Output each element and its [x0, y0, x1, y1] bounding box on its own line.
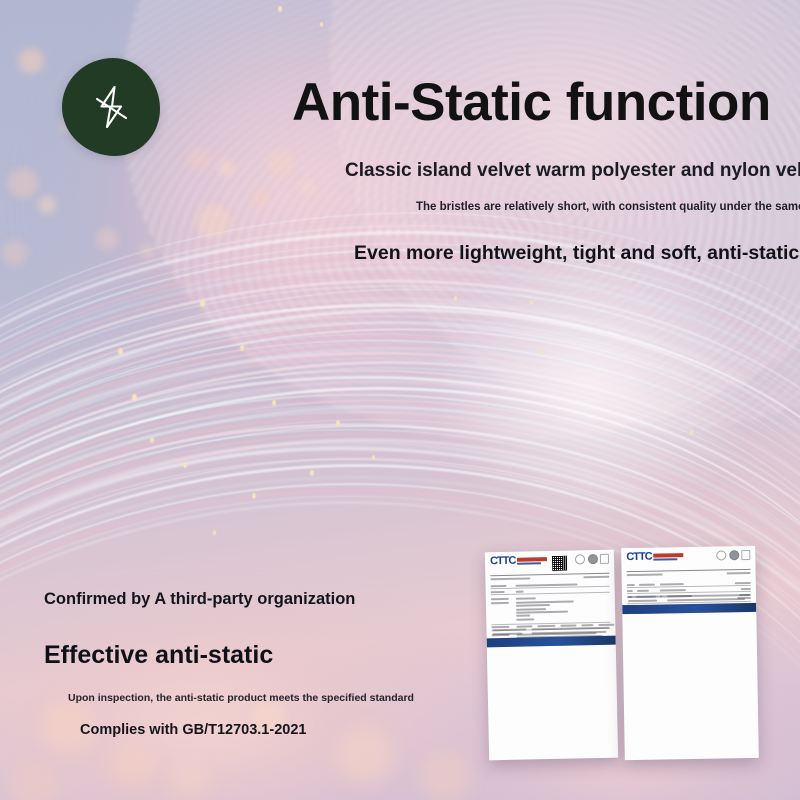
ilac-seal-icon: [741, 550, 750, 560]
cma-seal-icon: [729, 550, 739, 560]
document-footer-bar: [622, 603, 756, 614]
cttc-logo-text: CTTC: [490, 556, 516, 568]
anti-static-lightning-icon: [88, 82, 134, 132]
page-number-line: [727, 572, 751, 574]
logo-subtitle-lines: [654, 553, 684, 560]
effective-anti-static-heading: Effective anti-static: [44, 641, 273, 670]
cnas-seal-icon: [716, 550, 726, 560]
cttc-logo: CTTC: [626, 551, 684, 563]
test-report-document-1: CTTC: [485, 550, 618, 761]
document-footer-bar: [487, 635, 616, 647]
test-report-document-2: CTTC: [621, 546, 759, 760]
report-number-line: [627, 573, 663, 576]
table-row: [491, 593, 611, 625]
anti-static-badge: [62, 58, 160, 156]
ilac-seal-icon: [600, 554, 609, 564]
cnas-seal-icon: [575, 554, 585, 564]
qr-code-icon: [551, 555, 568, 572]
accreditation-seals: [575, 554, 609, 565]
cma-seal-icon: [587, 554, 597, 564]
bristle-note: The bristles are relatively short, with …: [416, 201, 800, 213]
standard-compliance: Complies with GB/T12703.1-2021: [80, 722, 306, 738]
cttc-logo: CTTC: [490, 555, 548, 567]
inspection-statement: Upon inspection, the anti-static product…: [68, 692, 414, 704]
page-title: Anti-Static function: [292, 72, 771, 133]
report-number-line: [490, 577, 530, 580]
document-header: CTTC: [485, 550, 614, 575]
third-party-confirmation: Confirmed by A third-party organization: [44, 590, 355, 609]
logo-subtitle-lines: [517, 557, 547, 564]
document-body: [622, 612, 756, 614]
feature-tagline: Even more lightweight, tight and soft, a…: [354, 242, 799, 265]
cttc-logo-text: CTTC: [626, 552, 652, 563]
page-number-line: [583, 576, 609, 579]
document-body: [487, 644, 616, 647]
document-header: CTTC: [621, 546, 755, 570]
page-subtitle: Classic island velvet warm polyester and…: [345, 160, 800, 182]
product-feature-banner: Anti-Static function Classic island velv…: [0, 0, 800, 800]
accreditation-seals: [716, 550, 750, 561]
